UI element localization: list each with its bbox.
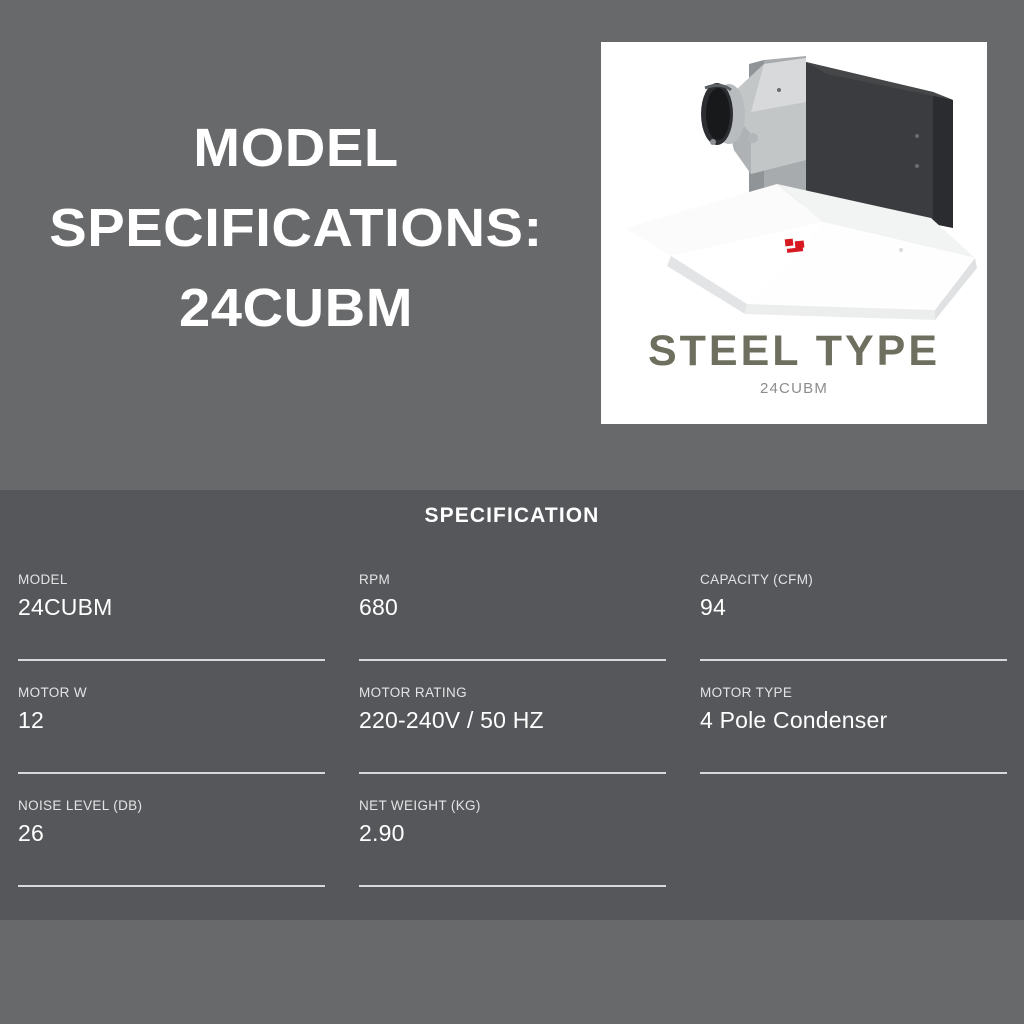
spec-cell-empty [700,798,1007,911]
title-line-2: SPECIFICATIONS: [0,188,604,268]
title-line-1: MODEL [0,108,604,188]
specification-panel: SPECIFICATION MODEL 24CUBM RPM 680 CAPAC… [0,490,1024,920]
spec-label: NET WEIGHT (KG) [359,798,666,814]
spec-label: MODEL [18,572,325,588]
spec-cell-motor-type: MOTOR TYPE 4 Pole Condenser [700,685,1007,798]
product-model-caption: 24CUBM [601,380,987,397]
product-spec-poster: MODEL SPECIFICATIONS: 24CUBM [0,0,1024,1024]
footer-band [0,920,1024,1024]
exhaust-fan-product-image [601,42,987,330]
page-title: MODEL SPECIFICATIONS: 24CUBM [0,108,604,348]
spec-label: NOISE LEVEL (DB) [18,798,325,814]
spec-label: MOTOR W [18,685,325,701]
spec-cell-capacity: CAPACITY (CFM) 94 [700,572,1007,685]
spec-cell-motor-rating: MOTOR RATING 220-240V / 50 HZ [359,685,666,798]
spec-cell-net-weight: NET WEIGHT (KG) 2.90 [359,798,666,911]
spec-cell-rpm: RPM 680 [359,572,666,685]
spec-cell-noise-level: NOISE LEVEL (DB) 26 [18,798,325,911]
spec-value: 4 Pole Condenser [700,706,1007,734]
spec-label: MOTOR RATING [359,685,666,701]
spec-label: CAPACITY (CFM) [700,572,1007,588]
spec-value: 26 [18,819,325,847]
spec-value: 2.90 [359,819,666,847]
spec-cell-model: MODEL 24CUBM [18,572,325,685]
product-card: STEEL TYPE 24CUBM [601,42,987,424]
specification-grid: MODEL 24CUBM RPM 680 CAPACITY (CFM) 94 M… [18,572,1007,911]
specification-heading: SPECIFICATION [0,504,1024,528]
spec-value: 220-240V / 50 HZ [359,706,666,734]
spec-value: 94 [700,593,1007,621]
spec-value: 12 [18,706,325,734]
product-type-caption: STEEL TYPE [589,328,999,374]
spec-cell-motor-w: MOTOR W 12 [18,685,325,798]
spec-value: 24CUBM [18,593,325,621]
spec-value: 680 [359,593,666,621]
spec-label: MOTOR TYPE [700,685,1007,701]
hero-section: MODEL SPECIFICATIONS: 24CUBM [0,0,1024,490]
title-line-3: 24CUBM [0,268,604,348]
spec-label: RPM [359,572,666,588]
